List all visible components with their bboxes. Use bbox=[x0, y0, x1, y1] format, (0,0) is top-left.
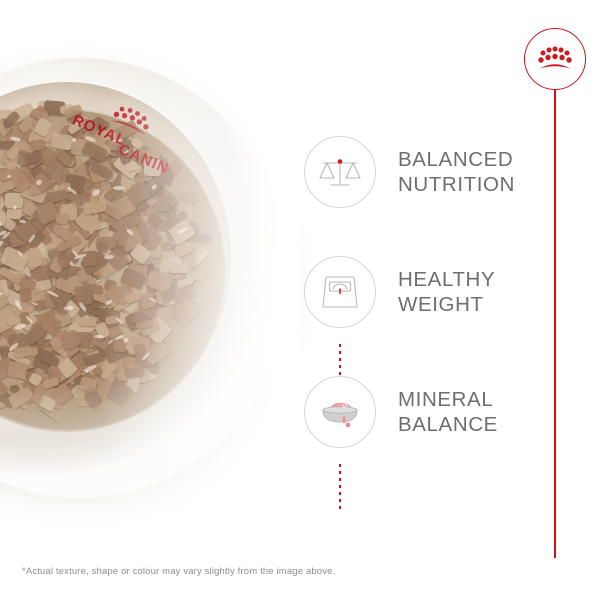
feature-row: MINERAL BALANCE bbox=[304, 376, 534, 448]
feature-label: MINERAL BALANCE bbox=[398, 387, 498, 437]
mineral-bowl-icon bbox=[304, 376, 376, 448]
feature-label: BALANCED NUTRITION bbox=[398, 147, 515, 197]
feature-row: HEALTHY WEIGHT bbox=[304, 256, 534, 328]
royal-canin-brandmark bbox=[524, 28, 588, 92]
feature-label: HEALTHY WEIGHT bbox=[398, 267, 495, 317]
svg-text:CANIN: CANIN bbox=[116, 141, 172, 178]
feature-row: BALANCED NUTRITION bbox=[304, 136, 534, 208]
feature-list: BALANCED NUTRITION HEALTHY WEIGHT bbox=[304, 136, 534, 448]
royal-canin-crown-icon bbox=[537, 46, 573, 72]
footnote-disclaimer: *Actual texture, shape or colour may var… bbox=[22, 566, 335, 578]
balance-scale-icon bbox=[304, 136, 376, 208]
bathroom-scale-icon bbox=[304, 256, 376, 328]
product-photo: ROYAL CANIN ® bbox=[0, 58, 290, 518]
brandmark-stem-line bbox=[554, 90, 556, 558]
feature-connector-dotted bbox=[339, 464, 341, 512]
svg-text:®: ® bbox=[166, 166, 173, 174]
product-feature-panel: ROYAL CANIN ® bbox=[0, 0, 600, 600]
